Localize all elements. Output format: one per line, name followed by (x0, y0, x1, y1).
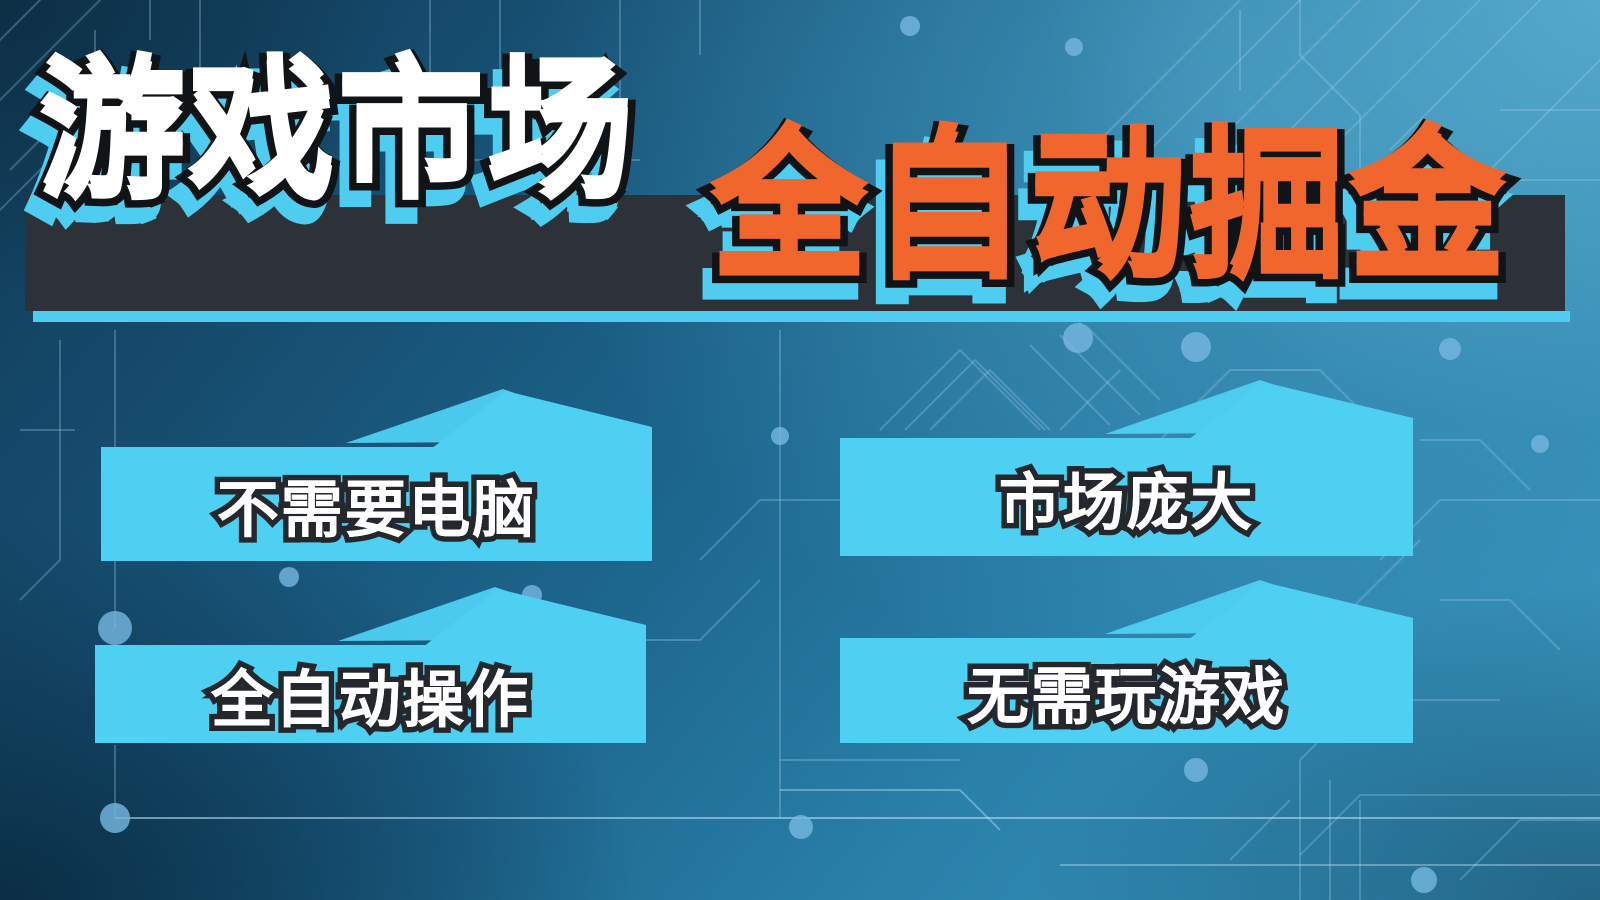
feature-label-2-fill: 全自动操作 (211, 649, 530, 739)
feature-card-1: 市场庞大市场庞大 (840, 438, 1413, 556)
feature-label-0: 不需要电脑不需要电脑 (101, 447, 652, 561)
headline-band (25, 195, 1565, 311)
promo-banner: 游戏市场 游戏市场 游戏市场 全自动掘金 全自动掘金 全自动掘金 不需要电脑不需… (0, 0, 1600, 900)
swoosh-arrow-icon (840, 578, 1413, 640)
feature-card-0: 不需要电脑不需要电脑 (101, 447, 652, 561)
swoosh-arrow-icon (101, 387, 652, 449)
feature-card-3: 无需玩游戏无需玩游戏 (840, 638, 1413, 743)
swoosh-arrow-icon (95, 585, 646, 647)
feature-card-2: 全自动操作全自动操作 (95, 645, 646, 743)
feature-label-1: 市场庞大市场庞大 (840, 438, 1413, 556)
headline-underline (33, 311, 1570, 322)
feature-label-3: 无需玩游戏无需玩游戏 (840, 638, 1413, 743)
feature-label-3-fill: 无需玩游戏 (967, 646, 1286, 736)
feature-label-2: 全自动操作全自动操作 (95, 645, 646, 743)
swoosh-arrow-icon (840, 378, 1413, 440)
feature-label-0-fill: 不需要电脑 (217, 459, 536, 549)
feature-label-1-fill: 市场庞大 (999, 452, 1254, 542)
